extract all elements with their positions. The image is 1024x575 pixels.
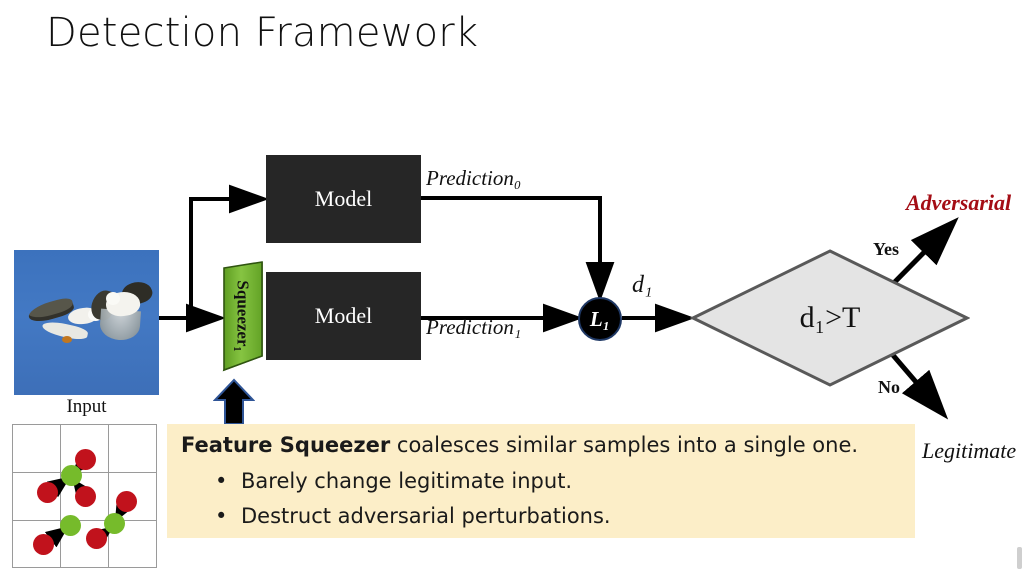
sample-point-red <box>33 534 54 555</box>
prediction-bottom-label: Prediction₁ <box>426 315 521 340</box>
input-image-thumbnail <box>14 250 159 395</box>
feature-squeeze-illustration <box>12 424 157 568</box>
caption-lead-rest: coalesces similar samples into a single … <box>390 433 858 457</box>
caption-callout-box: Feature Squeezer coalesces similar sampl… <box>167 424 915 538</box>
caption-lead-line: Feature Squeezer coalesces similar sampl… <box>181 433 858 457</box>
caption-bullet-text: Barely change legitimate input. <box>241 469 572 493</box>
sample-point-red <box>86 528 107 549</box>
distance-node-label: L₁ <box>590 307 610 332</box>
callout-block-arrow-icon <box>213 378 255 426</box>
squeezed-point-green <box>104 513 125 534</box>
model-box-top: Model <box>266 155 421 243</box>
sample-point-red <box>75 486 96 507</box>
page-title: Detection Framework <box>46 10 478 56</box>
outcome-adversarial-label: Adversarial <box>906 190 1011 216</box>
outcome-legitimate-label: Legitimate <box>922 438 1016 464</box>
prediction-top-label: Prediction₀ <box>426 166 521 191</box>
scrollbar-thumb[interactable] <box>1017 547 1022 569</box>
slide-canvas: Detection Framework Input <box>0 0 1024 575</box>
distance-node-l1: L₁ <box>578 297 622 341</box>
bird-left-foot <box>62 336 72 343</box>
bullet-glyph-icon: • <box>215 469 241 493</box>
input-caption-label: Input <box>14 396 159 418</box>
bullet-glyph-icon: • <box>215 504 241 528</box>
model-box-top-label: Model <box>315 186 372 212</box>
squeezed-point-green <box>61 465 82 486</box>
caption-bullet-item: •Destruct adversarial perturbations. <box>215 504 611 528</box>
model-box-bottom-label: Model <box>315 303 372 329</box>
caption-bullet-item: •Barely change legitimate input. <box>215 469 572 493</box>
distance-label: d₁ <box>632 272 652 299</box>
caption-bullet-text: Destruct adversarial perturbations. <box>241 504 611 528</box>
branch-label-no: No <box>878 377 900 398</box>
caption-lead-bold: Feature Squeezer <box>181 433 390 457</box>
sample-point-red <box>37 482 58 503</box>
decision-diamond-shape <box>690 248 970 388</box>
bird-left-upper-wing <box>27 296 76 325</box>
sample-point-red <box>116 491 137 512</box>
squeezed-point-green <box>60 515 81 536</box>
squeezer-shape <box>222 260 264 372</box>
bird-right-head <box>106 292 120 305</box>
branch-label-yes: Yes <box>873 239 899 260</box>
model-box-bottom: Model <box>266 272 421 360</box>
